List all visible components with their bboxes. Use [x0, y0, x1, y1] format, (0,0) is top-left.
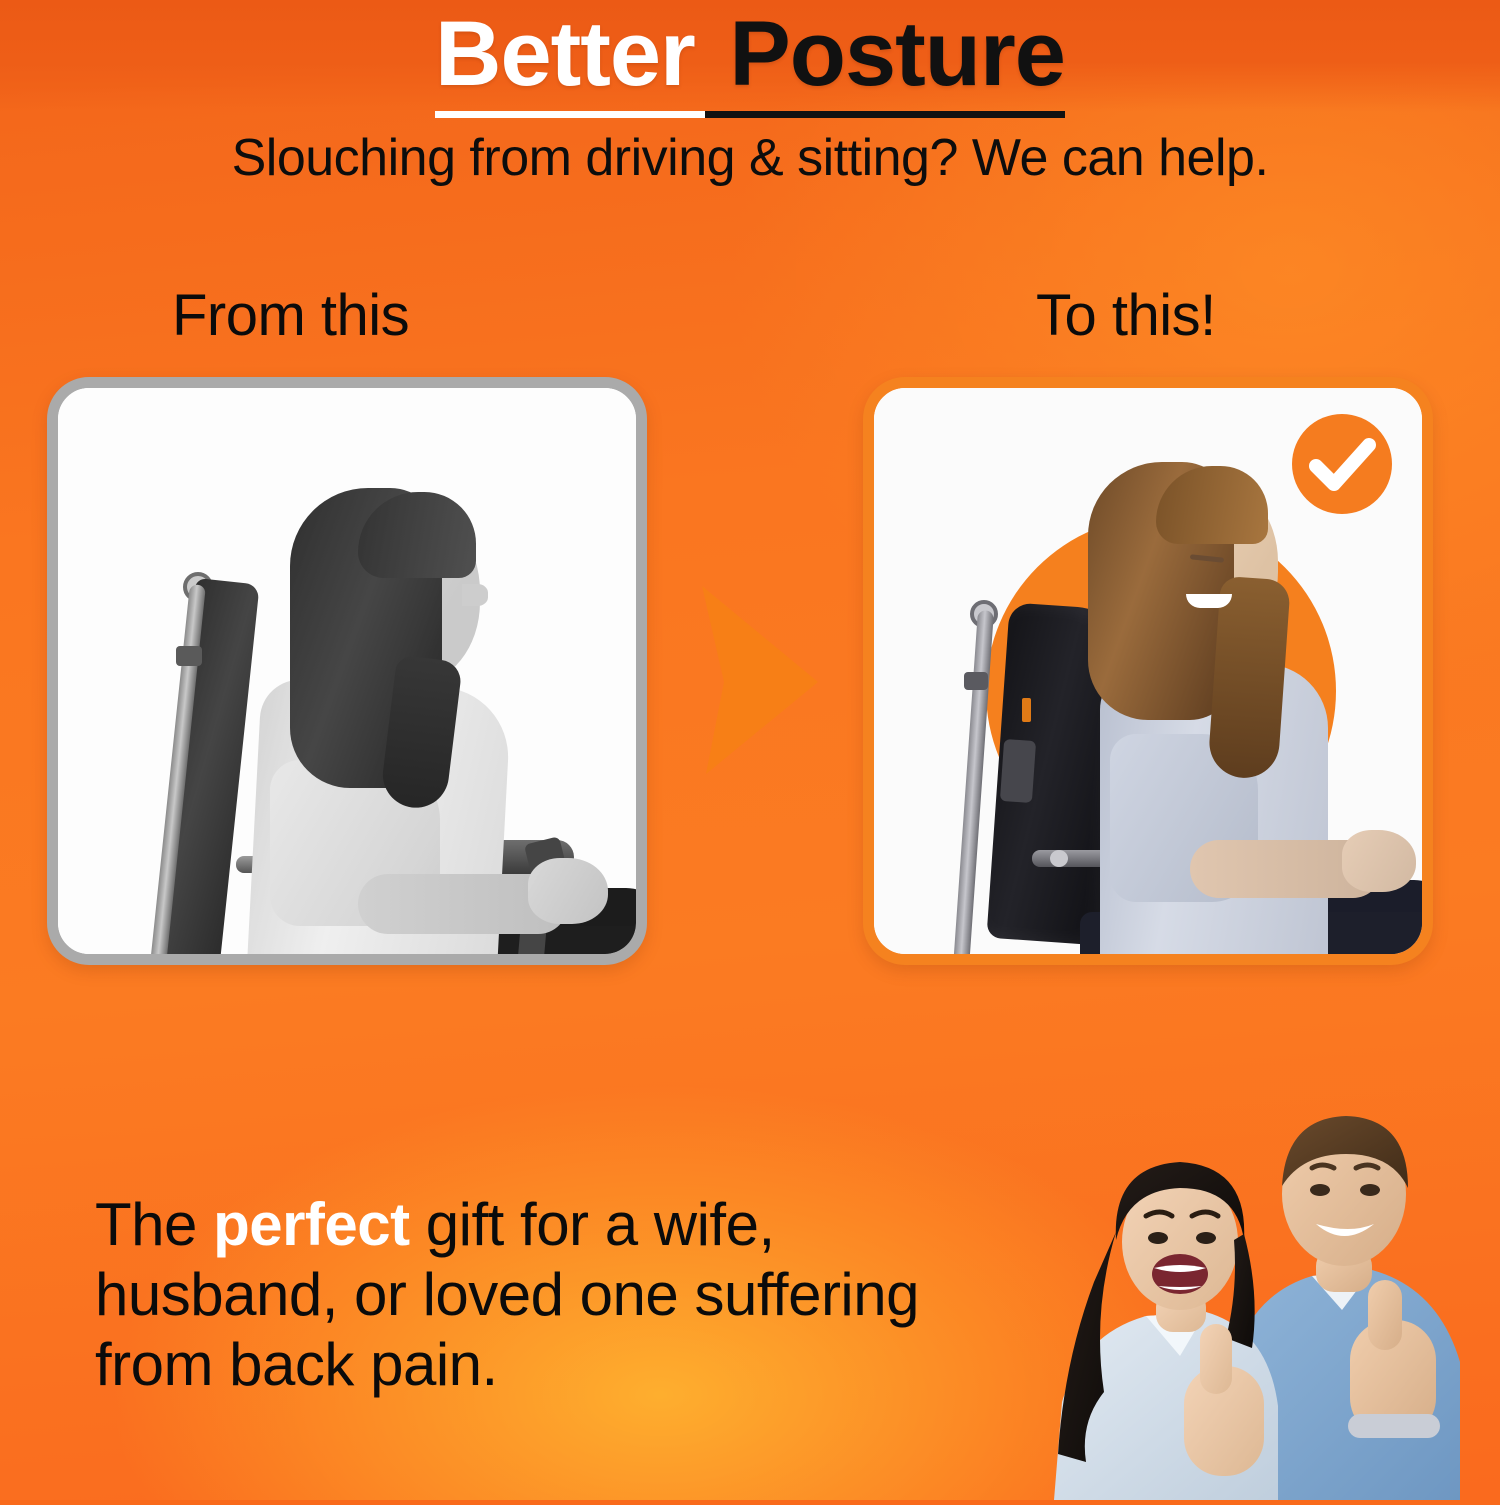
armrest-bolt: [1050, 850, 1068, 867]
check-circle-icon: [1290, 412, 1394, 516]
before-label: From this: [172, 282, 409, 349]
person-hand: [1342, 830, 1416, 892]
header: Better Posture Slouching from driving & …: [0, 0, 1500, 188]
footer-highlight-perfect: perfect: [213, 1191, 410, 1258]
footer-line3: from back pain.: [95, 1331, 498, 1398]
before-photo: [58, 388, 636, 954]
chair-adjust-bolt: [964, 672, 988, 690]
couple-woman: [1054, 1162, 1278, 1500]
footer-line1-pre: The: [95, 1191, 213, 1258]
after-photo-card[interactable]: [863, 377, 1433, 965]
footer-copy: The perfect gift for a wife, husband, or…: [95, 1190, 1045, 1401]
right-arrow-icon: [690, 578, 830, 778]
before-scene-illustration: [58, 388, 636, 954]
footer-line2: husband, or loved one suffering: [95, 1261, 919, 1328]
cushion-strap: [1000, 739, 1036, 803]
person-smile: [1186, 594, 1232, 608]
person-hand: [528, 858, 608, 924]
page-subtitle: Slouching from driving & sitting? We can…: [0, 128, 1500, 188]
page-title-word-posture: Posture: [705, 3, 1065, 118]
page-title: Better Posture: [0, 0, 1500, 100]
footer-line1-post: gift for a wife,: [410, 1191, 775, 1258]
page-title-word-better: Better: [435, 3, 705, 118]
chair-adjust-bolt: [176, 646, 202, 666]
before-photo-card[interactable]: [47, 377, 647, 965]
after-label: To this!: [1036, 282, 1216, 349]
cushion-brand-tag: [1022, 698, 1031, 722]
person-nose: [462, 584, 488, 606]
couple-thumbs-up-photo: [1020, 1062, 1490, 1500]
